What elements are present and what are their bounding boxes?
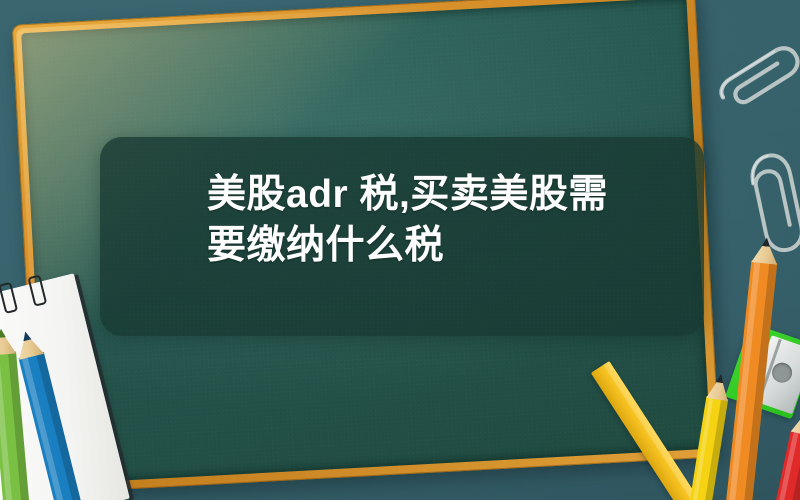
page-title: 美股adr 税,买卖美股需要缴纳什么税 (207, 169, 627, 271)
title-card-canvas: 美股adr 税,买卖美股需要缴纳什么税 (0, 0, 800, 500)
headline-panel: 美股adr 税,买卖美股需要缴纳什么税 (100, 137, 704, 336)
